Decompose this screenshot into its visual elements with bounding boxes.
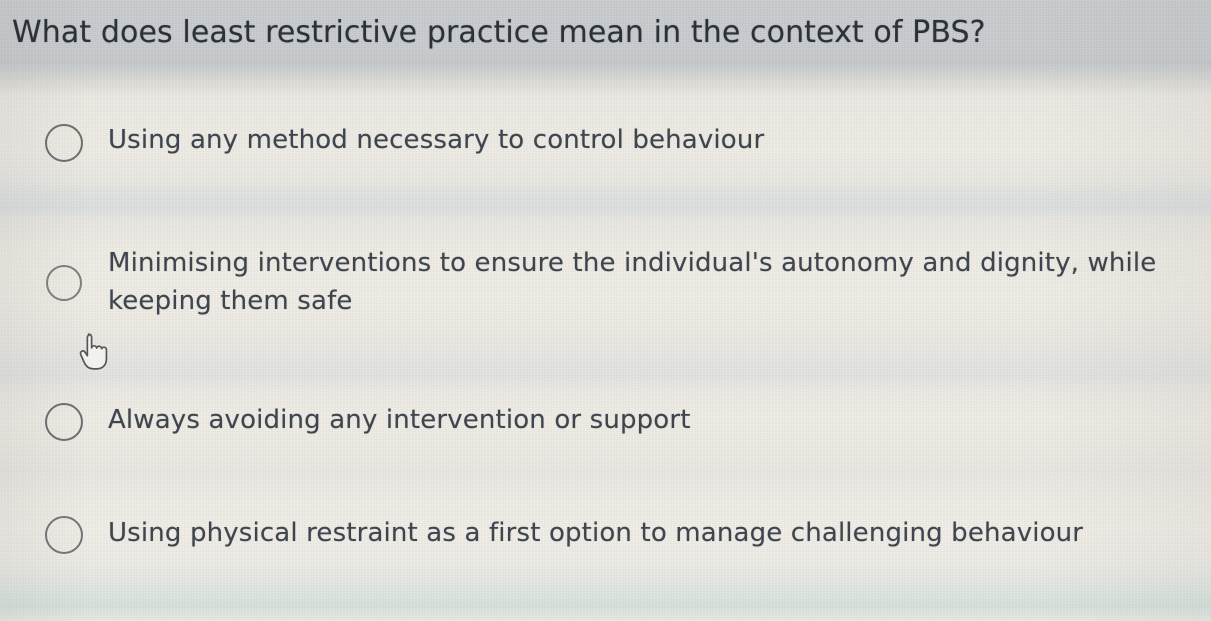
answer-option-1-label: Using any method necessary to control be… bbox=[108, 121, 1108, 159]
answer-option-1[interactable]: Using any method necessary to control be… bbox=[0, 121, 1211, 162]
quiz-screen: What does least restrictive practice mea… bbox=[0, 0, 1211, 621]
radio-unchecked-icon[interactable] bbox=[45, 516, 83, 554]
answer-option-2[interactable]: Minimising interventions to ensure the i… bbox=[0, 244, 1211, 320]
question-text: What does least restrictive practice mea… bbox=[12, 11, 1162, 55]
answer-option-3-label: Always avoiding any intervention or supp… bbox=[108, 401, 1108, 439]
radio-unchecked-icon[interactable] bbox=[45, 124, 83, 162]
radio-unchecked-icon[interactable] bbox=[46, 265, 82, 301]
answer-option-4-label: Using physical restraint as a first opti… bbox=[108, 514, 1168, 552]
radio-unchecked-icon[interactable] bbox=[45, 403, 83, 441]
answer-option-4[interactable]: Using physical restraint as a first opti… bbox=[0, 514, 1211, 554]
answer-option-2-label: Minimising interventions to ensure the i… bbox=[108, 244, 1198, 320]
answer-option-3[interactable]: Always avoiding any intervention or supp… bbox=[0, 401, 1211, 441]
quiz-content: What does least restrictive practice mea… bbox=[0, 0, 1211, 621]
pointing-hand-cursor-icon bbox=[77, 332, 111, 372]
